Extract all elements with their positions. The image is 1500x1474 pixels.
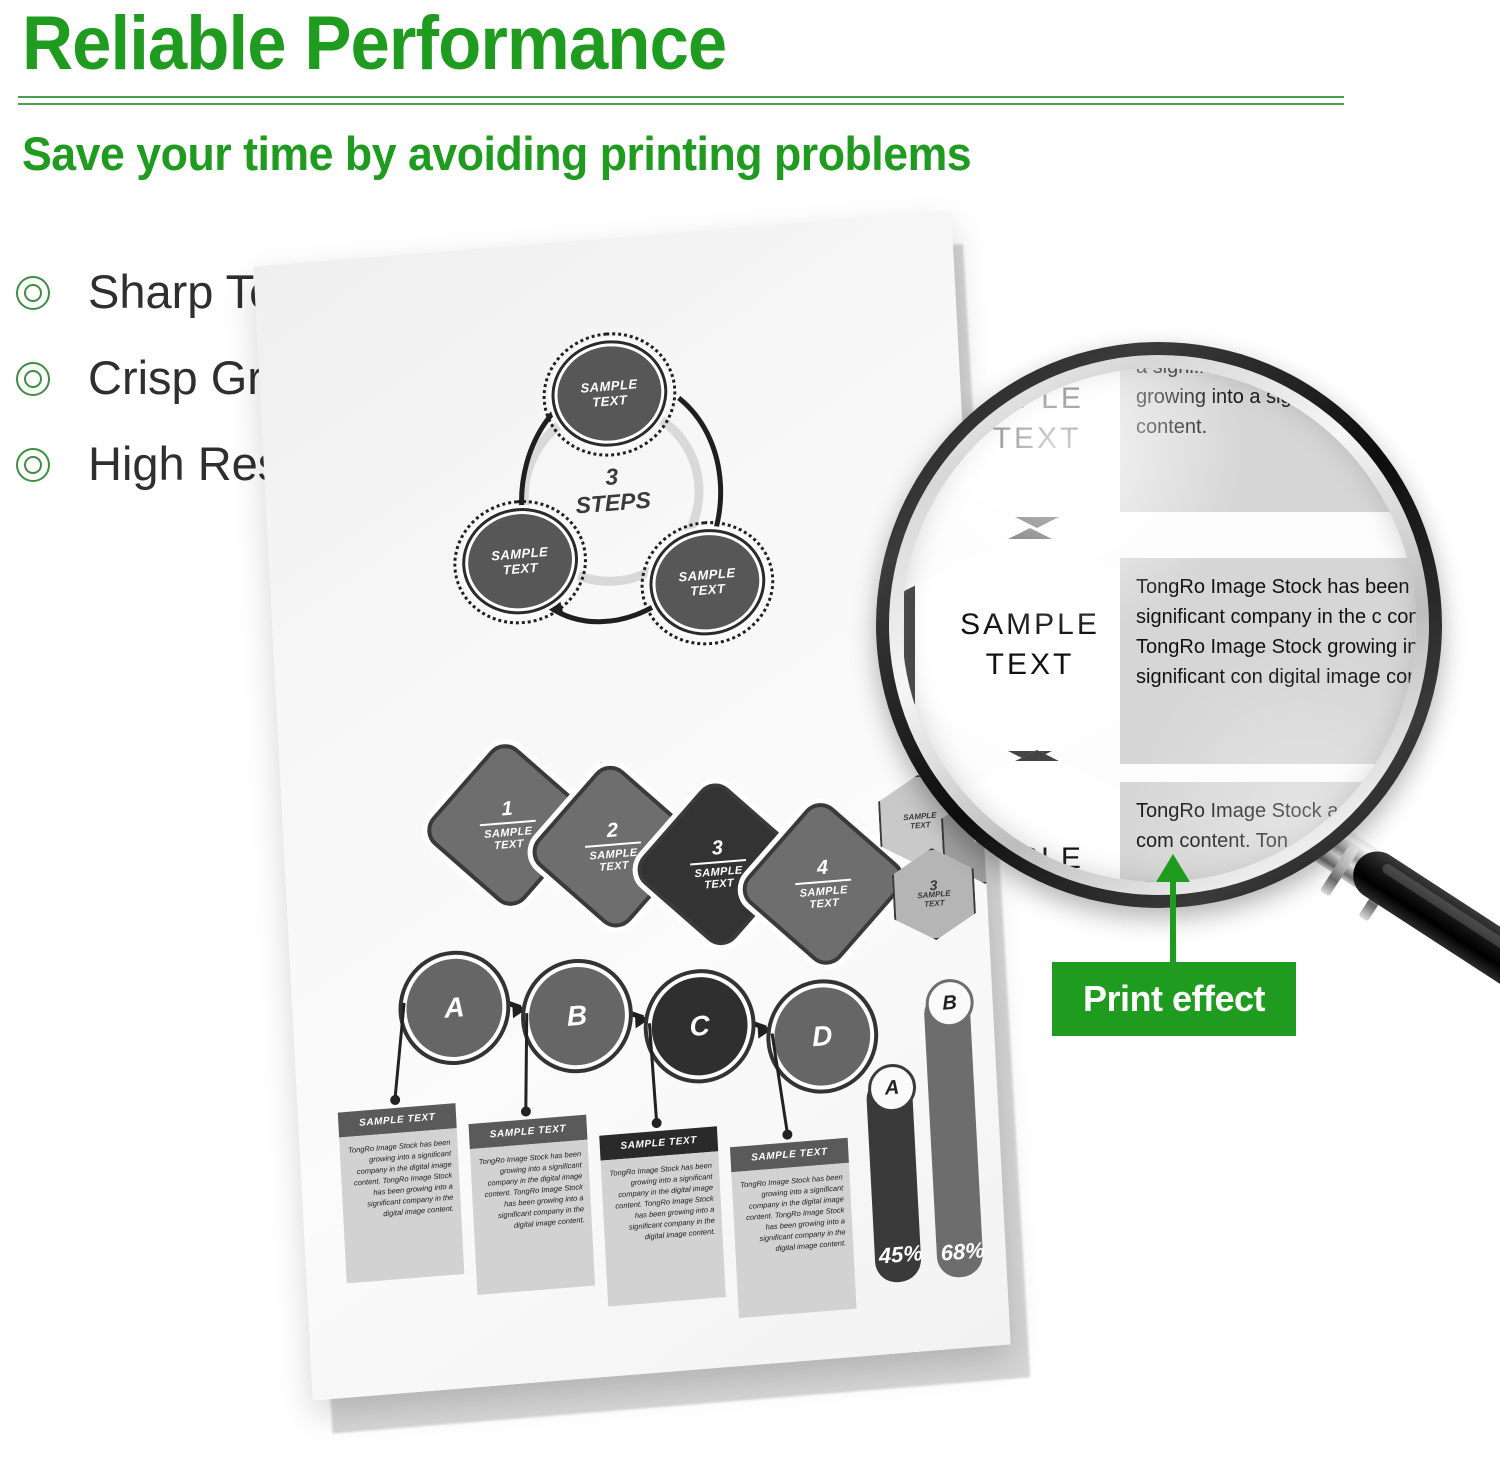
callout-badge: Print effect	[1052, 962, 1296, 1036]
magnified-hex-line1: MPLE	[990, 839, 1084, 879]
diamond-number: 4	[816, 857, 828, 878]
magnified-text-band-mid: TongRo Image Stock has been a significan…	[1120, 558, 1416, 764]
diamond-number: 2	[606, 820, 618, 841]
magnified-hex-line1: MPLE	[990, 379, 1084, 419]
card-body: TongRo Image Stock has been growing into…	[731, 1163, 856, 1318]
magnified-content: MPLE TEXT SAMPLE TEXT MPLE a significant…	[902, 368, 1416, 882]
magnified-text-band-top: a significant content. TongRo growing in…	[1120, 368, 1416, 512]
diamond-number: 3	[711, 838, 723, 859]
cycle-node-line2: TEXT	[592, 392, 628, 410]
magnified-hex-line2: TEXT	[986, 645, 1075, 685]
text-card-group: SAMPLE TEXT TongRo Image Stock has been …	[337, 1061, 867, 1332]
text-card: SAMPLE TEXT TongRo Image Stock has been …	[338, 1103, 465, 1283]
magnified-hex-mid: SAMPLE TEXT	[904, 528, 1156, 762]
cycle-node-line2: TEXT	[503, 560, 539, 578]
diamond-number: 1	[501, 799, 513, 820]
magnified-hex-line1: SAMPLE	[960, 605, 1100, 645]
diamond-line2: TEXT	[704, 877, 734, 891]
magnified-hex-top: MPLE TEXT	[920, 368, 1154, 528]
diamond-line2: TEXT	[494, 838, 524, 852]
bar-chart: A B 45% 68%	[846, 969, 1010, 1301]
card-body: TongRo Image Stock has been growing into…	[601, 1151, 726, 1306]
callout-label: Print effect	[1083, 978, 1265, 1020]
card-body: TongRo Image Stock has been growing into…	[339, 1128, 464, 1283]
cycle-center-label: 3 STEPS	[566, 460, 658, 519]
cycle-diagram: SAMPLE TEXT SAMPLE TEXT SAMPLE TEXT 3 ST	[454, 332, 769, 656]
callout-connector-line	[1170, 878, 1176, 964]
diamond-line2: TEXT	[599, 859, 629, 873]
text-card: SAMPLE TEXT TongRo Image Stock has been …	[469, 1115, 596, 1295]
bar-value-b: 68%	[940, 1237, 985, 1267]
bar-value-a: 45%	[878, 1240, 923, 1270]
card-body: TongRo Image Stock has been growing into…	[470, 1140, 595, 1295]
bar-b	[923, 990, 984, 1279]
diamond-line2: TEXT	[809, 897, 839, 911]
diamond-step-diagram: 1 SAMPLE TEXT 2 SAMPLE TEXT	[441, 719, 869, 923]
cycle-node-line2: TEXT	[690, 581, 726, 599]
print-effect-callout: Print effect	[1052, 878, 1312, 1058]
magnifier-lens: MPLE TEXT SAMPLE TEXT MPLE a significant…	[902, 368, 1416, 882]
magnified-hex-line2: TEXT	[993, 419, 1082, 459]
text-card: SAMPLE TEXT TongRo Image Stock has been …	[599, 1126, 726, 1306]
text-card: SAMPLE TEXT TongRo Image Stock has been …	[730, 1138, 857, 1318]
magnified-hex-bottom: MPLE	[920, 750, 1154, 882]
